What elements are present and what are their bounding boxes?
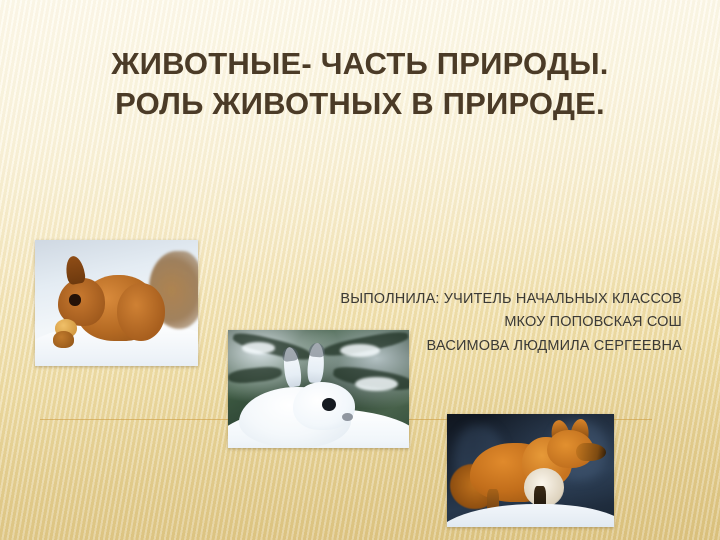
hare-photo	[228, 330, 409, 448]
slide-title-line-1: ЖИВОТНЫЕ- ЧАСТЬ ПРИРОДЫ.	[36, 44, 684, 84]
slide-title-line-2: РОЛЬ ЖИВОТНЫХ В ПРИРОДЕ.	[36, 84, 684, 124]
fox-photo	[447, 414, 614, 527]
squirrel-eye	[69, 294, 80, 305]
squirrel-paw	[53, 331, 74, 349]
hare-nose	[342, 413, 353, 421]
author-line-role: ВЫПОЛНИЛА: УЧИТЕЛЬ НАЧАЛЬНЫХ КЛАССОВ	[252, 288, 682, 311]
presentation-slide: ЖИВОТНЫЕ- ЧАСТЬ ПРИРОДЫ. РОЛЬ ЖИВОТНЫХ В…	[0, 0, 720, 540]
slide-title: ЖИВОТНЫЕ- ЧАСТЬ ПРИРОДЫ. РОЛЬ ЖИВОТНЫХ В…	[36, 44, 684, 123]
hare-photo-snow-clump	[242, 342, 275, 354]
squirrel-haunch	[117, 283, 166, 341]
squirrel-photo	[35, 240, 198, 366]
